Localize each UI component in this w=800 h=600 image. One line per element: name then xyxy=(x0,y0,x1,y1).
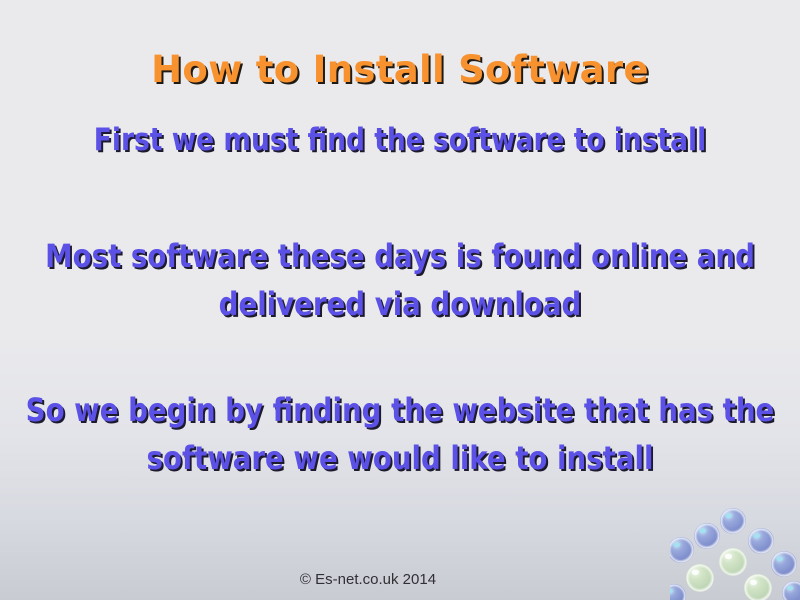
slide-subtitle: First we must find the software to insta… xyxy=(20,121,780,159)
bubble-icon xyxy=(720,508,746,534)
presentation-slide: How to Install Software First we must fi… xyxy=(0,0,800,600)
bubble-icon xyxy=(771,551,797,577)
slide-paragraph-1: Most software these days is found online… xyxy=(24,232,777,328)
bubble-icon xyxy=(782,581,800,600)
copyright-footer: © Es-net.co.uk 2014 xyxy=(0,571,736,589)
bubble-icon xyxy=(744,574,772,600)
bubble-icon xyxy=(748,528,774,554)
bubble-icon xyxy=(694,523,720,549)
bubble-icon xyxy=(670,537,694,563)
slide-title: How to Install Software xyxy=(0,48,800,92)
slide-paragraph-2: So we begin by finding the website that … xyxy=(24,386,777,482)
